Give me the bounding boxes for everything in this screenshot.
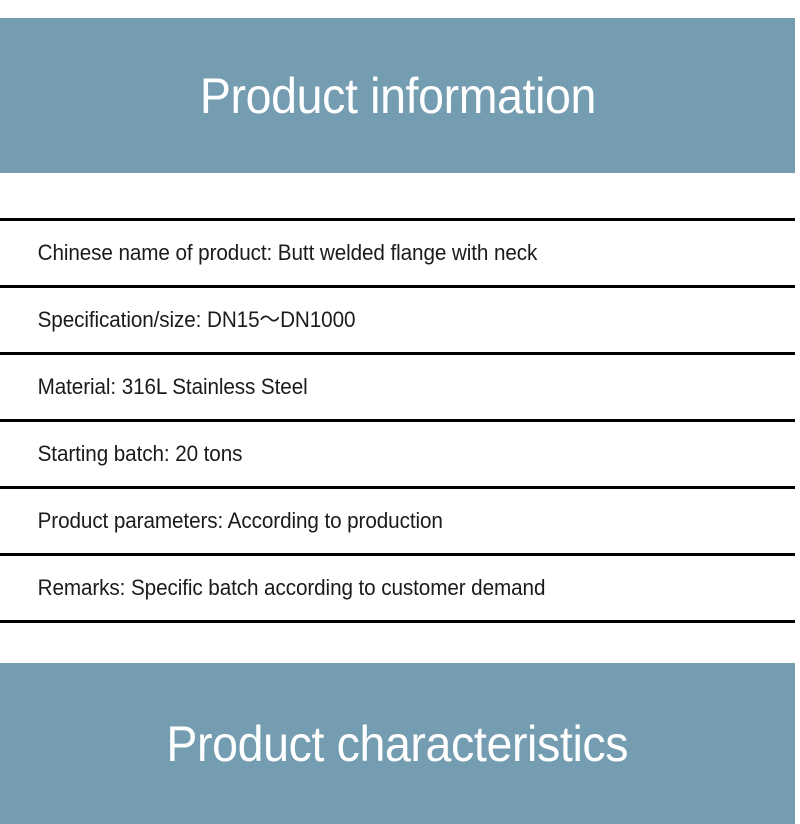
table-row: Product parameters: According to product…: [0, 489, 795, 553]
product-info-page: Product information Chinese name of prod…: [0, 0, 800, 824]
table-rule-bottom: [0, 620, 795, 623]
table-row: Specification/size: DN15～DN1000: [0, 288, 795, 352]
product-characteristics-title: Product characteristics: [167, 719, 629, 769]
table-row: Remarks: Specific batch according to cus…: [0, 556, 795, 620]
table-row-label: Starting batch: 20 tons: [0, 442, 242, 466]
table-row-label: Material: 316L Stainless Steel: [0, 375, 308, 399]
product-information-table: Chinese name of product: Butt welded fla…: [0, 218, 795, 623]
table-row-label: Product parameters: According to product…: [0, 509, 443, 533]
table-row: Starting batch: 20 tons: [0, 422, 795, 486]
table-row: Chinese name of product: Butt welded fla…: [0, 221, 795, 285]
product-information-banner: Product information: [0, 18, 795, 173]
table-row: Material: 316L Stainless Steel: [0, 355, 795, 419]
table-row-label: Chinese name of product: Butt welded fla…: [0, 241, 537, 265]
product-characteristics-banner: Product characteristics: [0, 663, 795, 824]
product-information-title: Product information: [199, 71, 595, 121]
table-row-label: Remarks: Specific batch according to cus…: [0, 576, 545, 600]
table-row-label: Specification/size: DN15～DN1000: [0, 308, 355, 332]
